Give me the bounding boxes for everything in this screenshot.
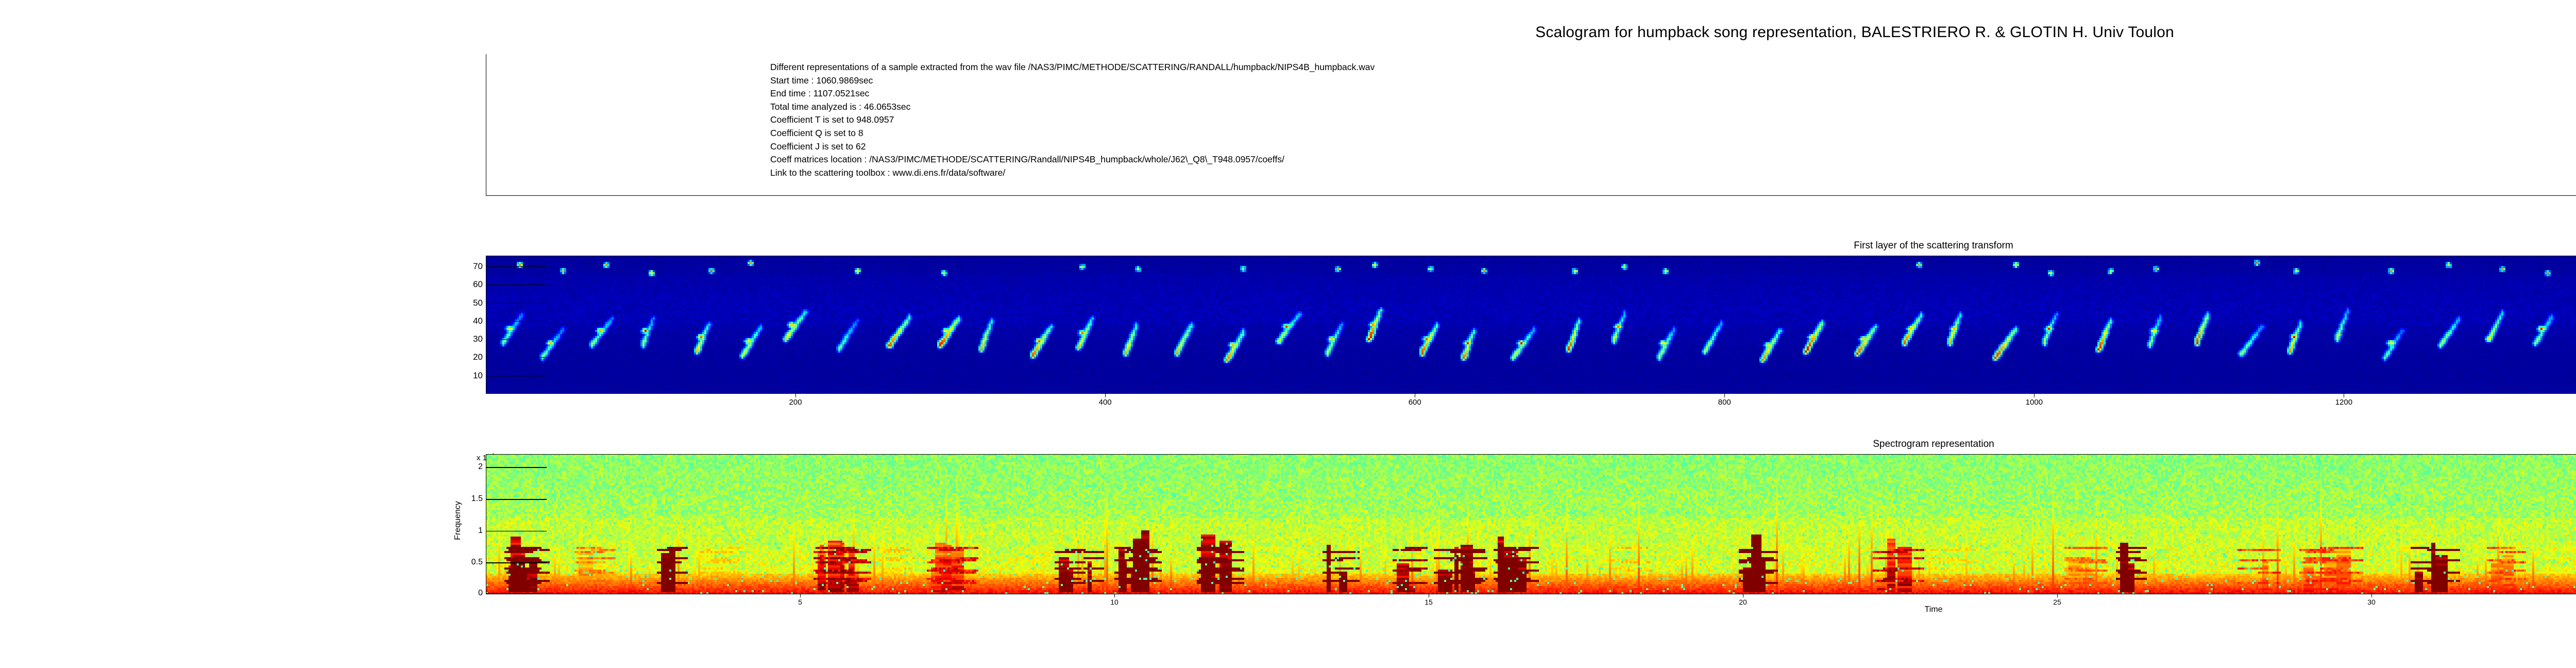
header-axes-left-spine <box>486 54 486 196</box>
scattering-y-tick-label: 20 <box>473 353 483 361</box>
scattering-x-tick <box>795 394 796 397</box>
info-line-coefficient-j: Coefficient J is set to 62 <box>770 140 1375 154</box>
info-line-toolbox-link: Link to the scattering toolbox : www.di.… <box>770 166 1375 180</box>
scattering-x-tick <box>1724 394 1725 397</box>
spectrogram-y-tick-label: 0.5 <box>471 558 483 566</box>
spectrogram-y-tick-label: 1 <box>478 527 483 535</box>
spectrogram-x-tick-label: 5 <box>798 598 802 606</box>
scattering-y-tick <box>486 339 547 340</box>
scattering-x-tick-label: 200 <box>789 398 802 406</box>
scattering-y-tick <box>486 357 547 358</box>
scattering-panel-title: First layer of the scattering transform <box>486 240 2576 252</box>
spectrogram-y-tick <box>486 562 547 563</box>
scattering-x-axis: 20040060080010001200140016001800 <box>486 394 2576 409</box>
page-title: Scalogram for humpback song representati… <box>0 24 2576 41</box>
scattering-x-tick <box>2034 394 2035 397</box>
spectrogram-x-tick-label: 25 <box>2053 598 2061 606</box>
scattering-y-tick <box>486 266 547 267</box>
scattering-y-tick <box>486 303 547 304</box>
spectrogram-y-tick-label: 0 <box>478 589 483 597</box>
info-line-coeff-matrices-location: Coeff matrices location : /NAS3/PIMC/MET… <box>770 153 1375 166</box>
scattering-y-tick-label: 30 <box>473 335 483 343</box>
scattering-x-tick-label: 600 <box>1409 398 1421 406</box>
scattering-y-tick <box>486 321 547 322</box>
spectrogram-y-axis-label: Frequency <box>453 501 463 540</box>
spectrogram-x-tick <box>800 594 801 597</box>
scattering-x-tick <box>1415 394 1415 397</box>
spectrogram-x-tick-label: 10 <box>1110 598 1118 606</box>
spectrogram-image[interactable] <box>486 454 2576 594</box>
info-line-coefficient-q: Coefficient Q is set to 8 <box>770 127 1375 140</box>
scattering-y-tick-label: 40 <box>473 316 483 325</box>
scattering-x-tick <box>2344 394 2344 397</box>
scattering-heatmap-canvas <box>486 256 2576 394</box>
spectrogram-x-tick-label: 20 <box>1739 598 1747 606</box>
spectrogram-panel-title: Spectrogram representation <box>486 439 2576 450</box>
scattering-y-tick-label: 60 <box>473 280 483 289</box>
scattering-y-tick-label: 70 <box>473 262 483 271</box>
scattering-transform-image[interactable] <box>486 256 2576 394</box>
spectrogram-x-tick <box>2371 594 2372 597</box>
scattering-y-tick <box>486 285 547 285</box>
info-line-total-time: Total time analyzed is : 46.0653sec <box>770 101 1375 114</box>
matlab-figure-canvas: Scalogram for humpback song representati… <box>0 0 2576 668</box>
scattering-x-tick-label: 1200 <box>2335 398 2352 406</box>
spectrogram-x-tick <box>1743 594 1743 597</box>
spectrogram-y-tick-label: 1.5 <box>471 495 483 503</box>
spectrogram-y-tick <box>486 467 547 468</box>
info-line-coefficient-t: Coefficient T is set to 948.0957 <box>770 113 1375 127</box>
spectrogram-x-tick <box>1114 594 1115 597</box>
spectrogram-y-tick <box>486 531 547 532</box>
spectrogram-x-tick-label: 30 <box>2367 598 2376 606</box>
analysis-info-block: Different representations of a sample ex… <box>770 61 1375 179</box>
scattering-x-tick-label: 800 <box>1718 398 1731 406</box>
spectrogram-x-axis-label: Time <box>486 605 2576 614</box>
scattering-y-tick-label: 10 <box>473 371 483 380</box>
spectrogram-y-tick <box>486 499 547 500</box>
info-line-end-time: End time : 1107.0521sec <box>770 87 1375 101</box>
header-axes-bottom-spine <box>486 195 2576 196</box>
info-line-start-time: Start time : 1060.9869sec <box>770 74 1375 88</box>
scattering-x-tick-label: 400 <box>1099 398 1112 406</box>
info-line-source-file: Different representations of a sample ex… <box>770 61 1375 74</box>
spectrogram-x-tick-label: 15 <box>1425 598 1433 606</box>
scattering-y-tick-label: 50 <box>473 298 483 307</box>
spectrogram-x-tick <box>1429 594 1429 597</box>
scattering-x-tick <box>1105 394 1106 397</box>
spectrogram-y-tick-label: 2 <box>478 463 483 471</box>
scattering-y-tick <box>486 376 547 376</box>
spectrogram-x-tick <box>2057 594 2058 597</box>
spectrogram-heatmap-canvas <box>486 454 2576 594</box>
scattering-x-tick-label: 1000 <box>2026 398 2043 406</box>
